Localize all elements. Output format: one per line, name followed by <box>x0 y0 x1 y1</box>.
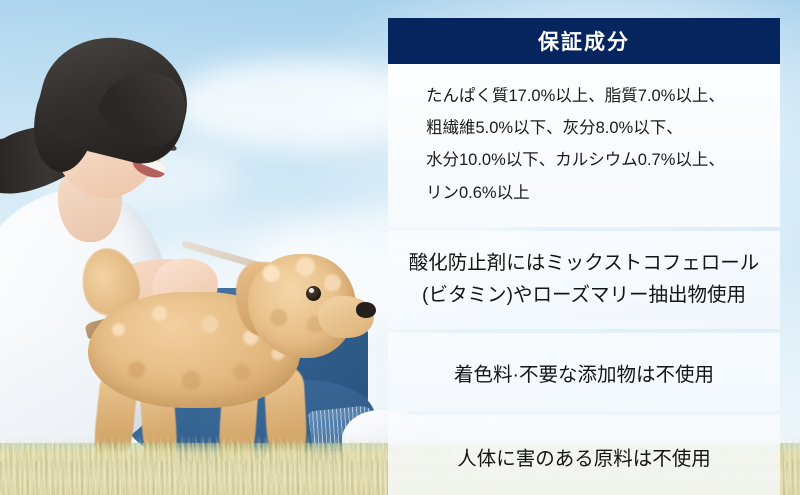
antioxidant-note-line: (ビタミン)やローズマリー抽出物使用 <box>388 279 780 311</box>
no-harmful-note-text: 人体に害のある原料は不使用 <box>457 442 711 471</box>
no-coloring-note-panel: 着色料·不要な添加物は不使用 <box>388 333 780 411</box>
antioxidant-note-line: 酸化防止剤にはミックストコフェロール <box>388 247 780 279</box>
guaranteed-analysis-body: たんぱく質17.0%以上、脂質7.0%以上、 粗繊維5.0%以下、灰分8.0%以… <box>388 64 780 227</box>
spec-panel-stack: 保証成分 たんぱく質17.0%以上、脂質7.0%以上、 粗繊維5.0%以下、灰分… <box>388 18 780 495</box>
dog-nose <box>356 302 376 318</box>
infographic-root: 保証成分 たんぱく質17.0%以上、脂質7.0%以上、 粗繊維5.0%以下、灰分… <box>0 0 800 495</box>
no-harmful-note-panel: 人体に害のある原料は不使用 <box>388 415 780 495</box>
spec-line: 水分10.0%以下、カルシウム0.7%以上、 <box>426 144 780 176</box>
dog-eye-highlight <box>309 288 314 293</box>
guaranteed-analysis-header: 保証成分 <box>388 18 780 64</box>
antioxidant-note-panel: 酸化防止剤にはミックストコフェロール (ビタミン)やローズマリー抽出物使用 <box>388 231 780 329</box>
spec-line: リン0.6%以上 <box>426 177 780 209</box>
page-title: 保証成分 <box>538 26 630 56</box>
spec-line: 粗繊維5.0%以下、灰分8.0%以下、 <box>426 112 780 144</box>
no-coloring-note-text: 着色料·不要な添加物は不使用 <box>454 358 714 387</box>
guaranteed-analysis-panel: 保証成分 たんぱく質17.0%以上、脂質7.0%以上、 粗繊維5.0%以下、灰分… <box>388 18 780 227</box>
spec-line: たんぱく質17.0%以上、脂質7.0%以上、 <box>426 80 780 112</box>
